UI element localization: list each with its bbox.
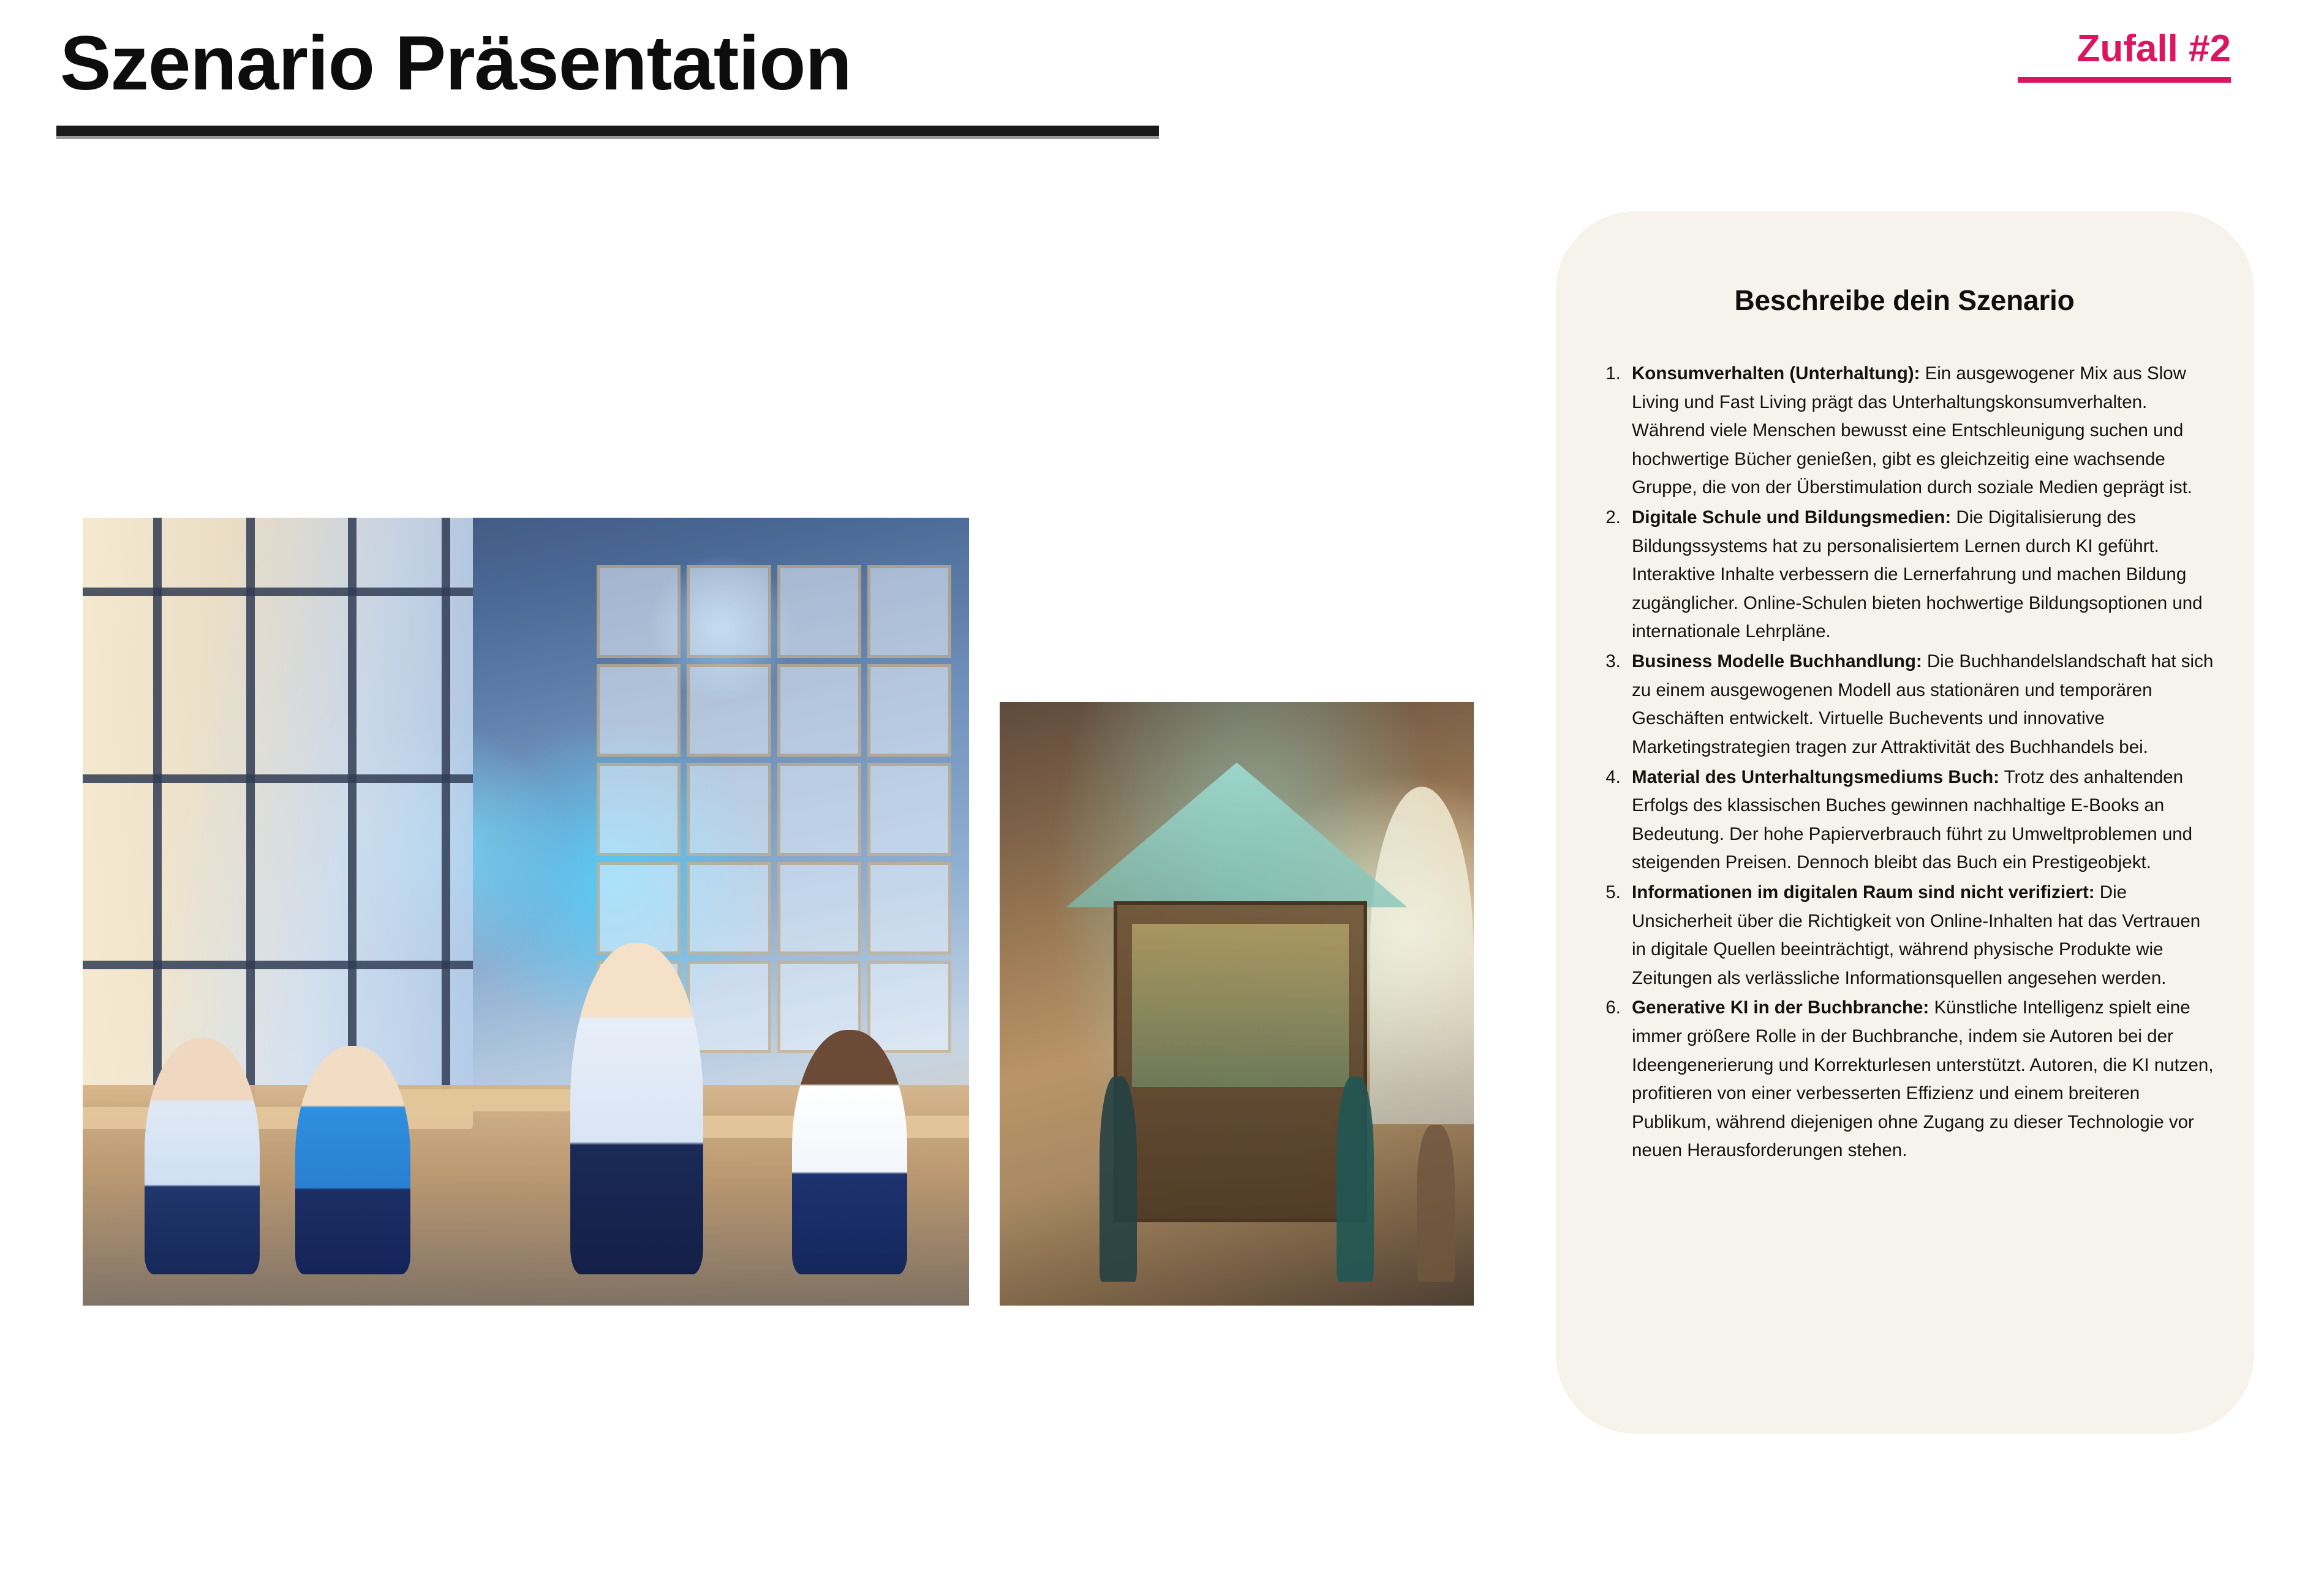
page-title: Szenario Präsentation bbox=[60, 23, 851, 104]
list-item-term: Generative KI in der Buchbranche: bbox=[1632, 997, 1929, 1018]
classroom-pupil bbox=[792, 1030, 907, 1274]
random-badge: Zufall #2 bbox=[2077, 27, 2231, 70]
bookstore-arched-window bbox=[1370, 787, 1474, 1125]
classroom-pupil bbox=[295, 1046, 410, 1274]
kiosk-shopper bbox=[1337, 1076, 1375, 1282]
classroom-ai-illustration bbox=[83, 518, 969, 1306]
list-item-term: Material des Unterhaltungsmediums Buch: bbox=[1632, 767, 1999, 787]
kiosk-shopper bbox=[1100, 1076, 1137, 1282]
list-item-text: Künstliche Intelligenz spielt eine immer… bbox=[1632, 997, 2214, 1160]
scenario-card-title: Beschreibe dein Szenario bbox=[1591, 284, 2217, 317]
list-item-term: Business Modelle Buchhandlung: bbox=[1632, 651, 1922, 671]
classroom-pupil bbox=[145, 1038, 260, 1274]
kiosk-book-shelf bbox=[1132, 924, 1349, 1087]
list-item-term: Digitale Schule und Bildungsmedien: bbox=[1632, 507, 1951, 528]
list-item-term: Informationen im digitalen Raum sind nic… bbox=[1632, 882, 2095, 902]
random-badge-underline bbox=[2018, 77, 2231, 83]
list-item: Material des Unterhaltungsmediums Buch: … bbox=[1626, 763, 2217, 877]
kiosk-shopper bbox=[1417, 1125, 1455, 1282]
list-item: Digitale Schule und Bildungsmedien: Die … bbox=[1626, 504, 2217, 646]
list-item-term: Konsumverhalten (Unterhaltung): bbox=[1632, 363, 1920, 384]
page-title-underline bbox=[56, 126, 1159, 139]
list-item: Generative KI in der Buchbranche: Künstl… bbox=[1626, 994, 2217, 1165]
list-item: Business Modelle Buchhandlung: Die Buchh… bbox=[1626, 648, 2217, 762]
kiosk-glass-roof bbox=[1066, 763, 1407, 907]
classroom-window bbox=[83, 518, 473, 1101]
bookstore-kiosk-illustration bbox=[1000, 702, 1474, 1306]
classroom-pupil-with-tablet bbox=[570, 943, 703, 1274]
scenario-list: Konsumverhalten (Unterhaltung): Ein ausg… bbox=[1591, 360, 2217, 1165]
list-item: Konsumverhalten (Unterhaltung): Ein ausg… bbox=[1626, 360, 2217, 502]
list-item: Informationen im digitalen Raum sind nic… bbox=[1626, 879, 2217, 993]
kiosk-body bbox=[1114, 901, 1367, 1222]
scenario-description-card: Beschreibe dein Szenario Konsumverhalten… bbox=[1556, 211, 2254, 1434]
